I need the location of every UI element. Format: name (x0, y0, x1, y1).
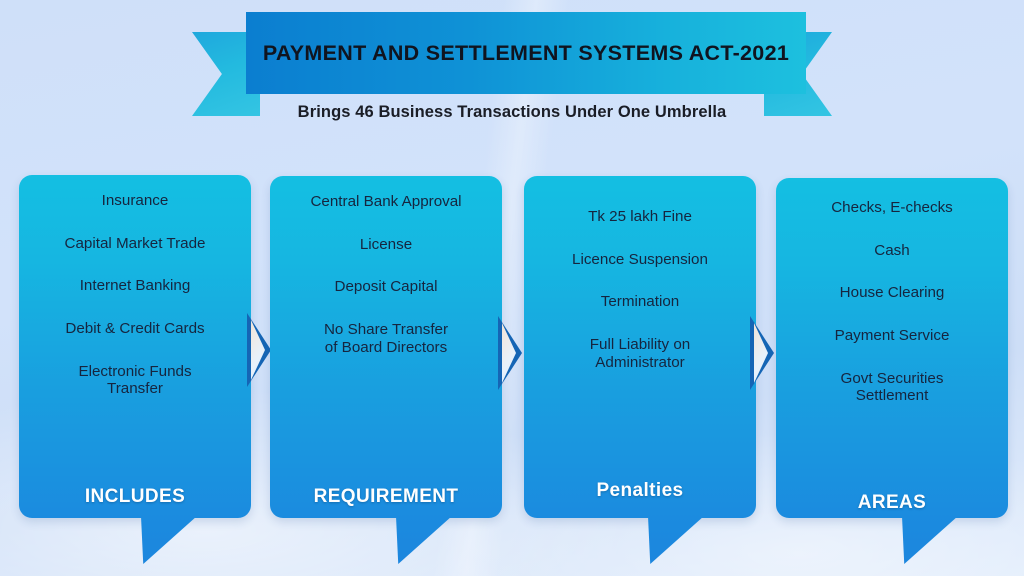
list-item: Cash (866, 242, 917, 260)
card-tail-icon (648, 516, 704, 564)
card-label-areas: AREAS (858, 492, 927, 518)
card-areas[interactable]: Checks, E-checks Cash House Clearing Pay… (776, 178, 1008, 518)
card-body: Checks, E-checks Cash House Clearing Pay… (776, 178, 1008, 518)
list-item: Central Bank Approval (302, 193, 469, 211)
list-item: No Share Transfer of Board Directors (316, 321, 456, 356)
list-item: Full Liability on Administrator (582, 336, 698, 371)
list-item: Insurance (94, 192, 177, 210)
card-row: Insurance Capital Market Trade Internet … (0, 0, 1024, 576)
list-item: Electronic Funds Transfer (70, 363, 199, 398)
card-item-list: Checks, E-checks Cash House Clearing Pay… (776, 178, 1008, 492)
list-item: Checks, E-checks (823, 199, 961, 217)
chevron-right-icon (498, 316, 522, 390)
list-item: Deposit Capital (327, 278, 446, 296)
chevron-right-icon (750, 316, 774, 390)
chevron-fill (502, 323, 516, 383)
card-body: Insurance Capital Market Trade Internet … (19, 175, 251, 518)
list-item: Capital Market Trade (57, 235, 214, 253)
list-item: Licence Suspension (564, 251, 716, 269)
card-tail-icon (141, 516, 197, 564)
list-item: Termination (593, 293, 688, 311)
list-item: Payment Service (827, 327, 958, 345)
list-item: Tk 25 lakh Fine (580, 208, 700, 226)
list-item: Internet Banking (72, 277, 199, 295)
card-label-requirement: REQUIREMENT (314, 486, 459, 518)
card-body: Tk 25 lakh Fine Licence Suspension Termi… (524, 176, 756, 518)
list-item: License (352, 236, 420, 254)
chevron-fill (754, 323, 768, 383)
card-item-list: Insurance Capital Market Trade Internet … (19, 175, 251, 486)
card-label-includes: INCLUDES (85, 486, 185, 518)
card-includes[interactable]: Insurance Capital Market Trade Internet … (19, 175, 251, 518)
list-item: House Clearing (832, 284, 953, 302)
card-item-list: Tk 25 lakh Fine Licence Suspension Termi… (524, 176, 756, 480)
card-label-penalties: Penalties (596, 480, 683, 518)
card-penalties[interactable]: Tk 25 lakh Fine Licence Suspension Termi… (524, 176, 756, 518)
list-item: Debit & Credit Cards (57, 320, 212, 338)
card-tail-icon (902, 516, 958, 564)
chevron-fill (251, 320, 265, 380)
card-requirement[interactable]: Central Bank Approval License Deposit Ca… (270, 176, 502, 518)
card-tail-icon (396, 516, 452, 564)
chevron-right-icon (247, 313, 271, 387)
list-item: Govt Securities Settlement (833, 370, 952, 405)
card-body: Central Bank Approval License Deposit Ca… (270, 176, 502, 518)
card-item-list: Central Bank Approval License Deposit Ca… (270, 176, 502, 486)
